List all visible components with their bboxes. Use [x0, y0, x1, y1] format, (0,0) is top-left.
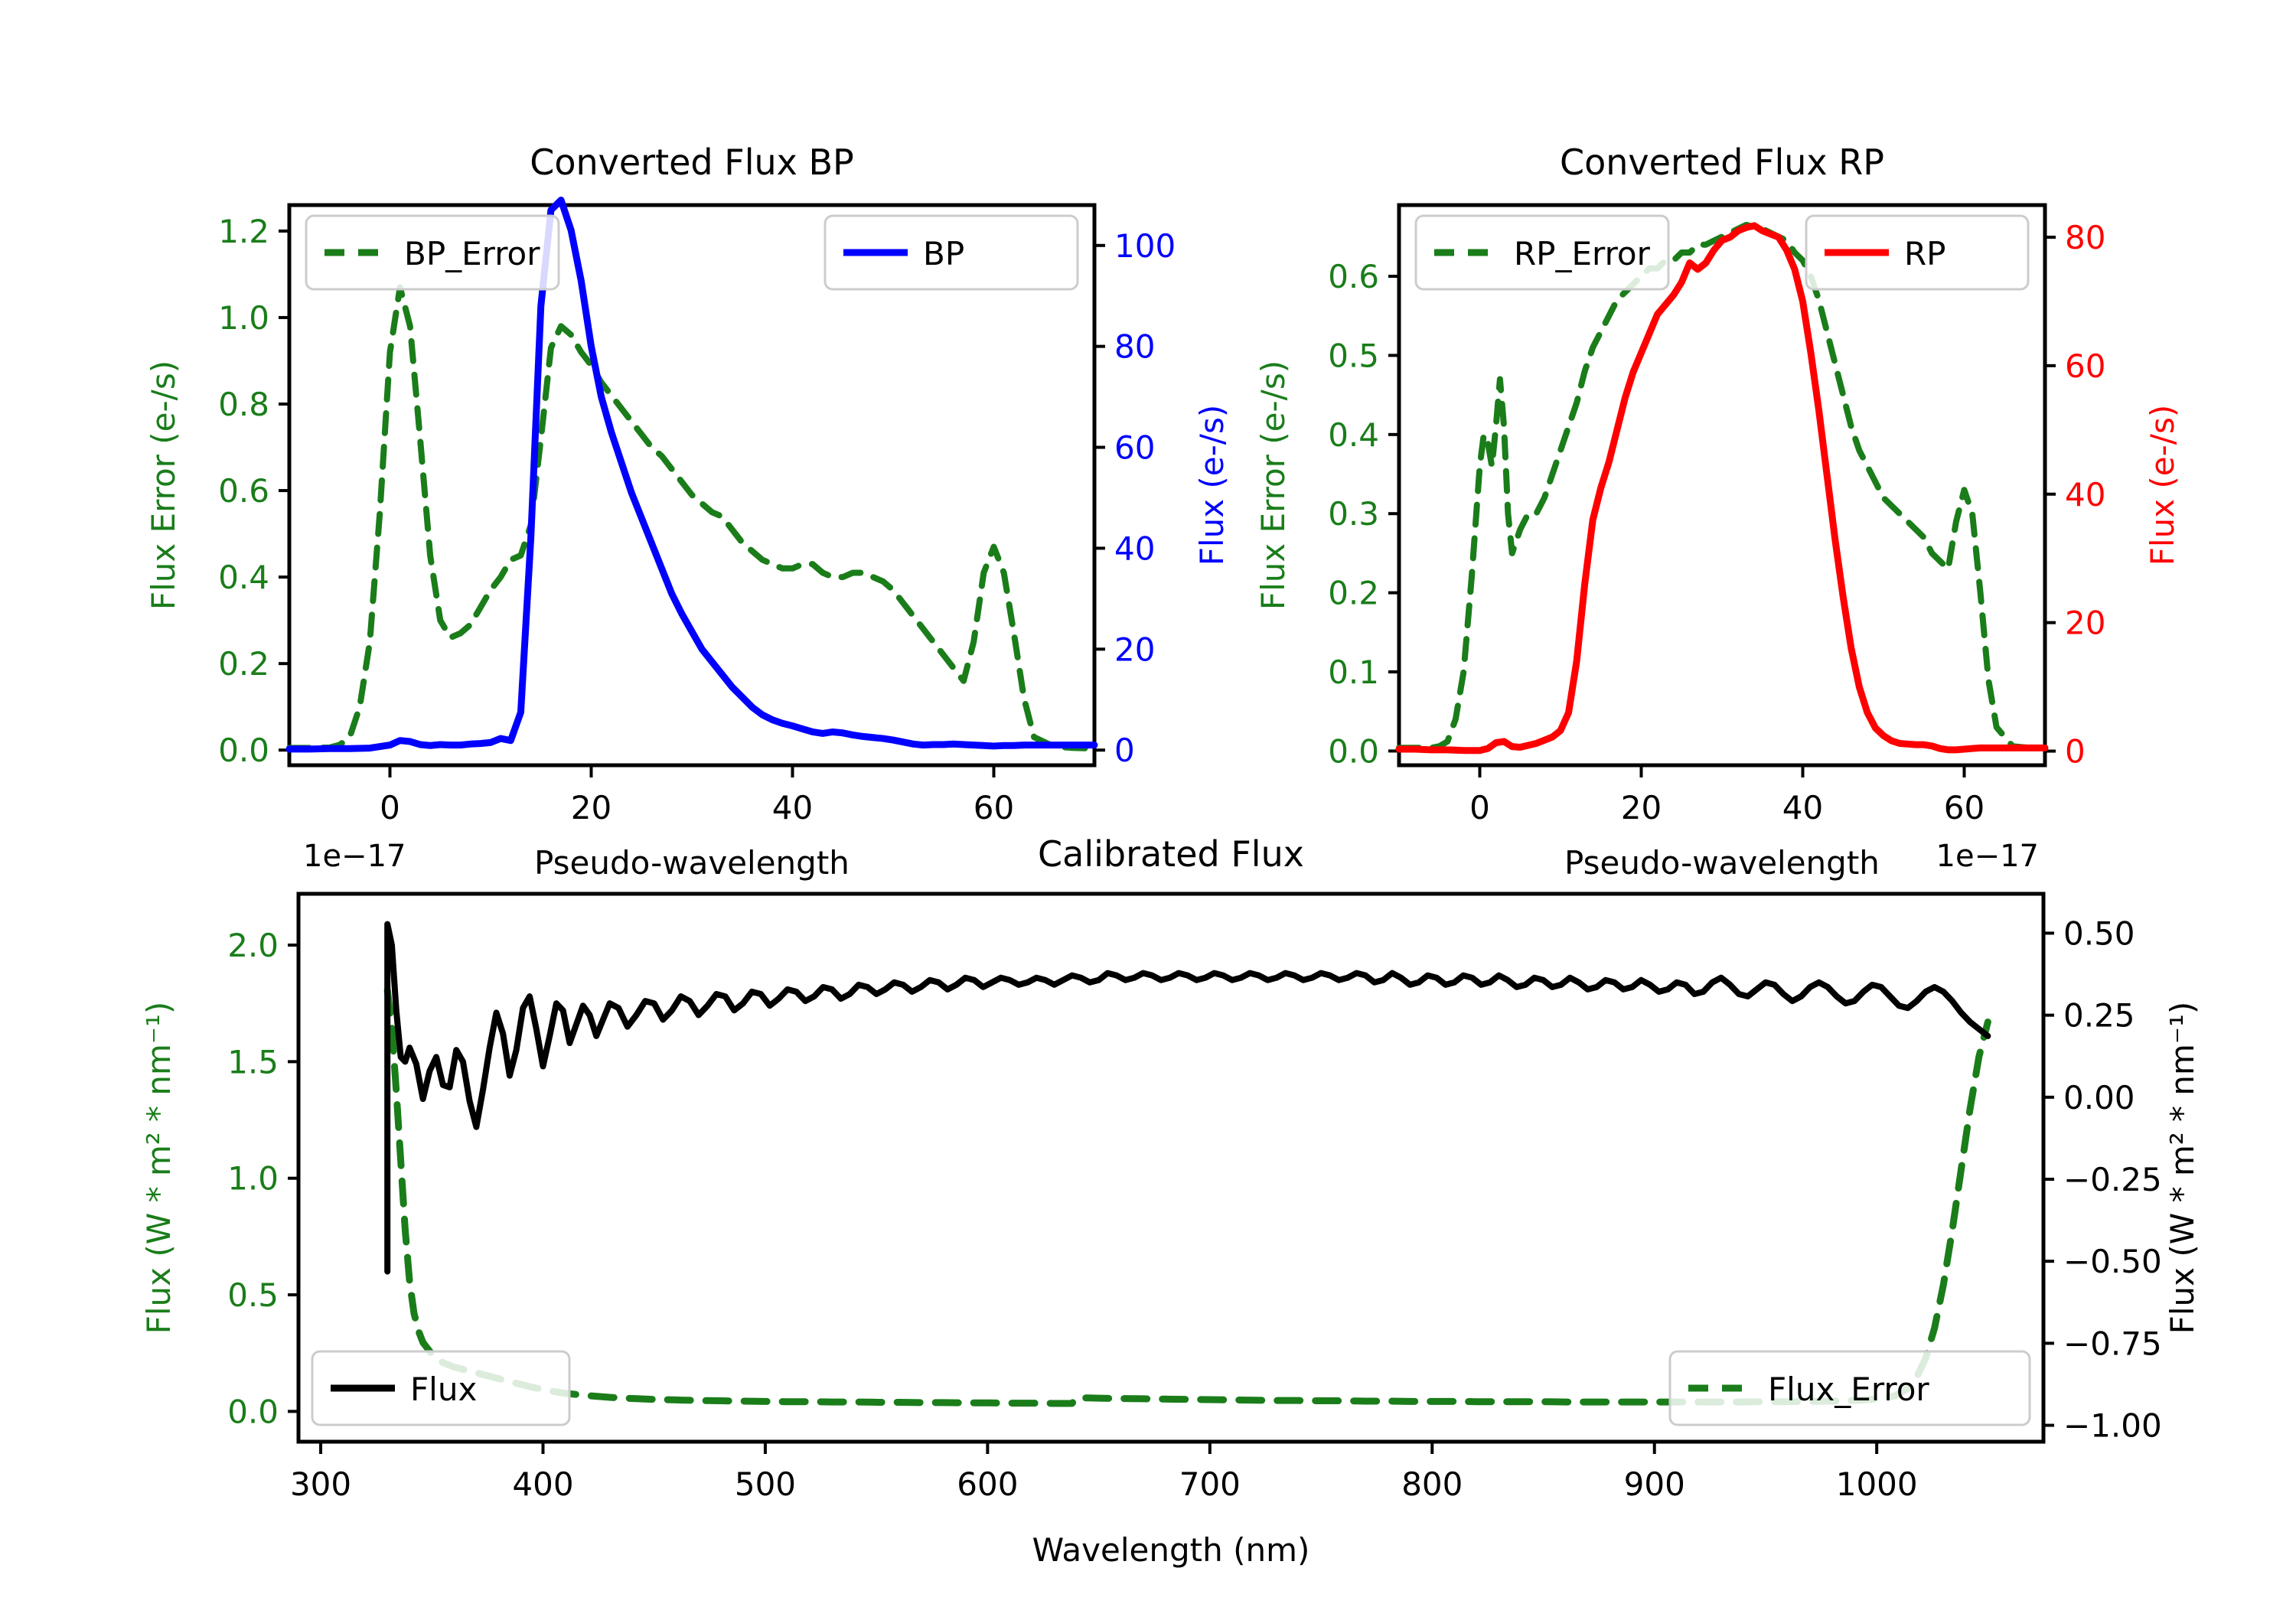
bp-ylabel-right: Flux (e-/s): [1193, 405, 1231, 566]
rp-left-axis-tick-label: 0.1: [1328, 654, 1379, 691]
rp-left-axis-tick-label: 0.2: [1328, 575, 1379, 612]
bp-x-axis-tick-label: 0: [380, 789, 400, 826]
rp-left-axis-tick-label: 0.5: [1328, 337, 1379, 374]
panel-converted-flux-rp: Converted Flux RP0.00.10.20.30.40.50.602…: [1254, 142, 2181, 882]
rp-left-axis-tick-label: 0.4: [1328, 416, 1379, 454]
matplotlib-figure: Converted Flux BP0.00.20.40.60.81.01.202…: [0, 0, 2296, 1607]
legend-bp-error-label: BP_Error: [404, 235, 540, 272]
bp-ylabel-left: Flux Error (e-/s): [145, 360, 182, 610]
cal-left-axis-tick-label: 1.0: [227, 1160, 279, 1198]
bp-right-axis-tick-label: 80: [1114, 328, 1155, 366]
legend-flux-label: Flux: [410, 1371, 477, 1408]
bp-left-axis-tick-label: 0.4: [218, 559, 269, 596]
rp-right-axis-tick-label: 40: [2065, 476, 2105, 513]
rp-right-axis-tick-label: 80: [2065, 219, 2105, 256]
rp-right-axis-tick-label: 20: [2065, 605, 2105, 642]
rp-xlabel: Pseudo-wavelength: [1564, 844, 1880, 882]
cal-right-axis-tick-label: −0.50: [2063, 1243, 2162, 1280]
cal-x-axis-tick-label: 700: [1179, 1465, 1241, 1503]
bp-left-axis-tick-label: 0.6: [218, 472, 269, 510]
figure-canvas: Converted Flux BP0.00.20.40.60.81.01.202…: [0, 0, 2296, 1607]
bp-right-axis-tick-label: 60: [1114, 429, 1155, 467]
legend-bp-label: BP: [923, 235, 964, 272]
cal-x-axis-tick-label: 900: [1624, 1465, 1685, 1503]
cal-left-axis-tick-label: 2.0: [227, 927, 279, 964]
cal-x-axis-tick-label: 800: [1401, 1465, 1463, 1503]
panel-title-calibrated: Calibrated Flux: [1038, 833, 1304, 875]
panel-calibrated-flux: Calibrated Flux1e−171e−170.00.51.01.52.0…: [140, 833, 2201, 1569]
bp-x-axis-tick-label: 60: [974, 789, 1014, 826]
rp-x-axis-tick-label: 60: [1944, 789, 1985, 826]
cal-left-axis-tick-label: 1.5: [227, 1043, 279, 1081]
legend-rp-error-label: RP_Error: [1514, 235, 1651, 272]
panel-converted-flux-bp: Converted Flux BP0.00.20.40.60.81.01.202…: [145, 142, 1231, 882]
bp-right-axis-tick-label: 20: [1114, 631, 1155, 668]
offset-label-right: 1e−17: [1936, 839, 2039, 874]
offset-label-left: 1e−17: [303, 839, 406, 874]
rp-x-axis-tick-label: 40: [1782, 789, 1823, 826]
panel-title-rp: Converted Flux RP: [1560, 142, 1884, 183]
cal-xlabel: Wavelength (nm): [1032, 1531, 1310, 1569]
rp-x-axis-tick-label: 20: [1621, 789, 1662, 826]
panel-title-bp: Converted Flux BP: [530, 142, 854, 183]
rp-ylabel-left: Flux Error (e-/s): [1254, 360, 1292, 610]
cal-right-axis-tick-label: −1.00: [2063, 1407, 2162, 1445]
bp-left-axis-tick-label: 0.8: [218, 386, 269, 423]
bp-right-axis-tick-label: 0: [1114, 732, 1135, 769]
cal-right-axis-tick-label: 0.25: [2063, 997, 2135, 1035]
bp-xlabel: Pseudo-wavelength: [534, 844, 850, 882]
cal-ylabel-right: Flux (W * m² * nm⁻¹): [2164, 1002, 2201, 1335]
bp-left-axis-tick-label: 1.2: [218, 213, 269, 250]
bp-right-axis-tick-label: 100: [1114, 227, 1176, 265]
rp-left-axis-tick-label: 0.0: [1328, 732, 1379, 770]
cal-right-axis-tick-label: 0.00: [2063, 1079, 2135, 1116]
rp-right-axis-tick-label: 60: [2065, 347, 2105, 385]
bp-x-axis-tick-label: 20: [571, 789, 612, 826]
cal-x-axis-tick-label: 600: [957, 1465, 1018, 1503]
rp-ylabel-right: Flux (e-/s): [2144, 405, 2181, 566]
cal-x-axis-tick-label: 400: [512, 1465, 573, 1503]
cal-left-axis-tick-label: 0.0: [227, 1393, 279, 1430]
rp-right-axis-tick-label: 0: [2065, 733, 2086, 771]
bp-x-axis-tick-label: 40: [772, 789, 813, 826]
bp-left-axis-tick-label: 0.0: [218, 732, 269, 769]
cal-right-axis-tick-label: 0.50: [2063, 914, 2135, 952]
cal-ylabel-left: Flux (W * m² * nm⁻¹): [140, 1002, 178, 1335]
cal-x-axis-tick-label: 300: [290, 1465, 351, 1503]
bp-left-axis-tick-label: 1.0: [218, 299, 269, 337]
legend-flux-error-label: Flux_Error: [1768, 1371, 1929, 1408]
rp-x-axis-tick-label: 0: [1469, 789, 1490, 826]
cal-right-axis-tick-label: −0.75: [2063, 1325, 2162, 1362]
bp-right-axis-tick-label: 40: [1114, 530, 1155, 567]
rp-left-axis-tick-label: 0.6: [1328, 258, 1379, 295]
rp-left-axis-tick-label: 0.3: [1328, 495, 1379, 533]
cal-x-axis-tick-label: 500: [735, 1465, 796, 1503]
bp-left-axis-tick-label: 0.2: [218, 645, 269, 683]
cal-right-axis-tick-label: −0.25: [2063, 1161, 2162, 1198]
cal-left-axis-tick-label: 0.5: [227, 1276, 279, 1314]
cal-x-axis-tick-label: 1000: [1836, 1465, 1918, 1503]
legend-rp-label: RP: [1904, 235, 1946, 272]
